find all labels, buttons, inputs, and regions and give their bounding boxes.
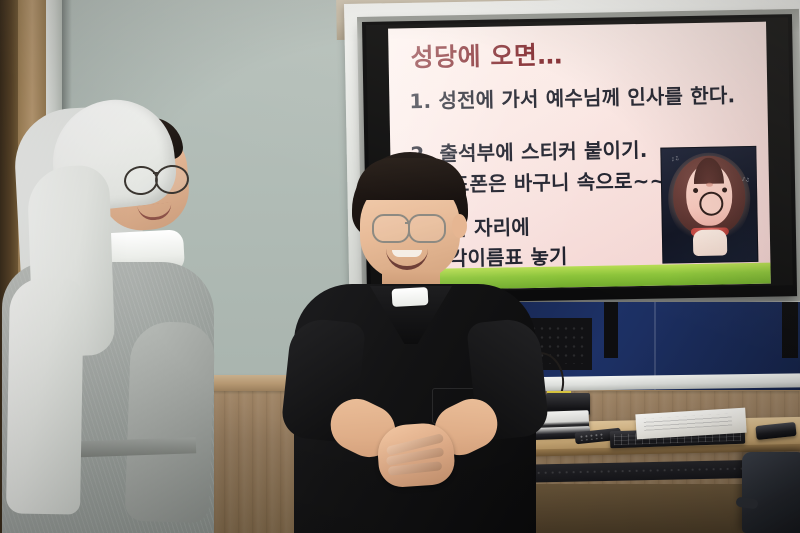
priest-fringe [356,158,466,200]
character-fringe [693,157,723,184]
nun-arm [125,321,216,524]
nun-figure [0,96,228,533]
nun-veil-front [6,277,84,514]
office-chair[interactable] [742,452,800,533]
roman-collar [392,287,429,307]
music-note-icon: ♪♫ [671,155,680,163]
priest-glasses-bridge [405,222,410,224]
priest-ear [452,214,467,238]
nun-glasses-bridge [153,172,158,174]
slide-title: 성당에 오면… [410,35,563,74]
character-body [693,229,727,256]
tv-stand-left [604,302,618,358]
slide-line-1: 1. 성전에 가서 예수님께 인사를 한다. [409,79,735,114]
slide-character-image: ♪♫ ♪♫ [660,146,758,264]
priest-glasses-left-lens [372,214,410,243]
character-right-eye [722,187,727,192]
character-left-eye [693,188,698,193]
tv-stand-right [782,302,798,358]
music-note-icon: ♪♫ [742,176,751,183]
priest-glasses-right-lens [408,214,446,243]
photo-scene: 성당에 오면… 1. 성전에 가서 예수님께 인사를 한다. 2. 출석부에 스… [0,0,800,533]
priest-figure [286,152,544,533]
